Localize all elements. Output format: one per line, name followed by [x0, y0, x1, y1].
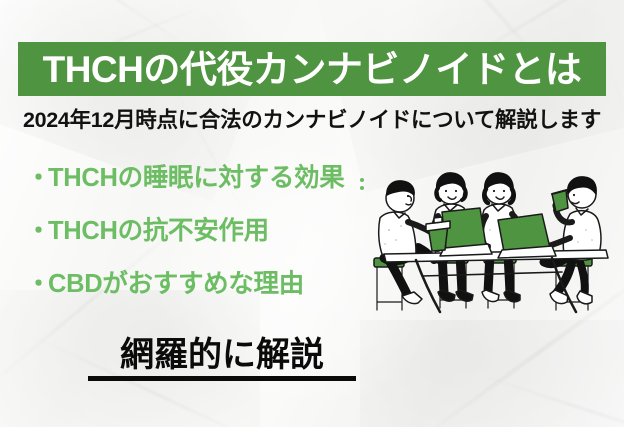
page-title: THCHの代役カンナビノイドとは — [43, 51, 582, 88]
meeting-illustration — [356, 150, 624, 328]
bullet-dot-icon: ・ — [26, 272, 48, 297]
footer-headline-underline — [88, 376, 356, 381]
bullet-dot-icon: ・ — [26, 166, 48, 191]
list-item: ・ THCHの抗不安作用 — [26, 219, 371, 272]
page-subtitle: 2024年12月時点に合法のカンナビノイドについて解説します — [0, 108, 624, 134]
bullet-dot-icon: ・ — [26, 219, 48, 244]
slide-canvas: THCHの代役カンナビノイドとは 2024年12月時点に合法のカンナビノイドにつ… — [0, 0, 624, 427]
footer-headline-text: 網羅的に解説 — [120, 336, 324, 375]
footer-headline: 網羅的に解説 — [88, 336, 356, 381]
title-banner: THCHの代役カンナビノイドとは — [18, 42, 606, 96]
list-item: ・ THCHの睡眠に対する効果 — [26, 166, 371, 219]
bullet-list: ・ THCHの睡眠に対する効果 ・ THCHの抗不安作用 ・ CBDがおすすめな… — [26, 166, 371, 325]
meeting-illustration-svg — [356, 150, 624, 328]
list-item-label: CBDがおすすめな理由 — [48, 272, 304, 298]
list-item-label: THCHの抗不安作用 — [48, 219, 269, 245]
list-item: ・ CBDがおすすめな理由 — [26, 272, 371, 325]
list-item-label: THCHの睡眠に対する効果 — [48, 166, 344, 192]
